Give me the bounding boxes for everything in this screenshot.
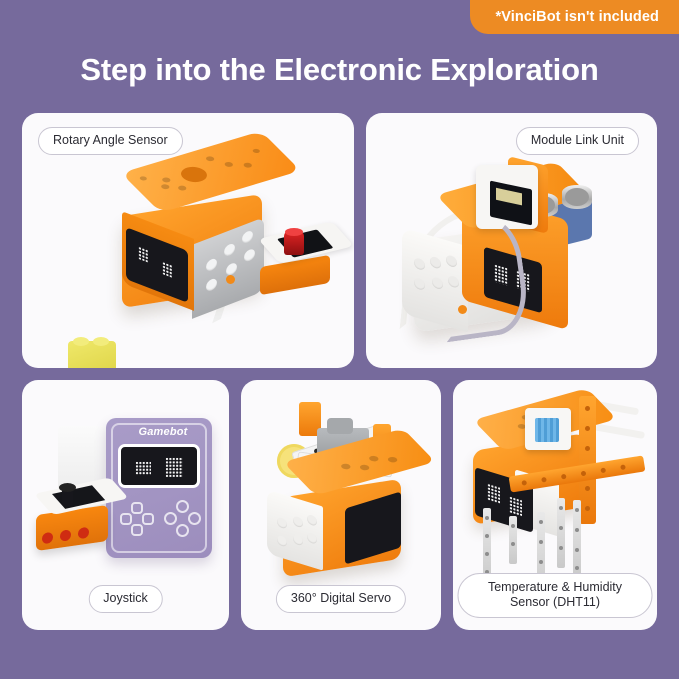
card-digital-servo[interactable]: 360° Digital Servo <box>241 380 441 630</box>
dht11-sensor-grid <box>535 418 559 442</box>
card-row-2: Gamebot Joystick <box>22 380 657 630</box>
orange-beam-vertical <box>579 396 596 524</box>
card-label-module-link-unit: Module Link Unit <box>516 127 639 155</box>
ultrasonic-cylinder-right <box>562 185 592 209</box>
console-screen <box>118 444 200 488</box>
page-title: Step into the Electronic Exploration <box>0 52 679 88</box>
grey-leg-4 <box>557 498 565 568</box>
card-label-joystick: Joystick <box>88 585 162 613</box>
gamebot-console: Gamebot <box>106 418 212 558</box>
card-rotary-angle-sensor[interactable]: Rotary Angle Sensor <box>22 113 354 368</box>
label-line-2: Sensor (DHT11) <box>510 595 600 609</box>
gamebot-logo: Gamebot <box>130 426 196 440</box>
console-buttons <box>164 500 204 540</box>
feature-card-grid: Rotary Angle Sensor <box>22 113 657 630</box>
label-line-1: Temperature & Humidity <box>488 580 622 594</box>
card-label-temperature-humidity-sensor: Temperature & Humidity Sensor (DHT11) <box>458 573 653 618</box>
card-module-link-unit[interactable]: Module Link Unit <box>366 113 657 368</box>
badge-text: *VinciBot isn't included <box>496 9 660 25</box>
grey-leg-5 <box>573 500 581 580</box>
card-label-digital-servo: 360° Digital Servo <box>276 585 406 613</box>
grey-leg-2 <box>509 516 517 564</box>
card-label-rotary-angle-sensor: Rotary Angle Sensor <box>38 127 183 155</box>
rotary-module-base <box>260 255 330 295</box>
console-dpad <box>120 502 154 536</box>
rotary-knob <box>284 231 304 255</box>
joystick-lever <box>62 488 73 506</box>
dht11-sensor-module <box>525 408 571 450</box>
card-joystick[interactable]: Gamebot Joystick <box>22 380 229 630</box>
vincibot-disclaimer-badge: *VinciBot isn't included <box>470 0 679 34</box>
card-row-1: Rotary Angle Sensor <box>22 113 657 368</box>
card-temperature-humidity-sensor[interactable]: Temperature & Humidity Sensor (DHT11) <box>453 380 657 630</box>
yellow-brick <box>68 341 116 368</box>
robot-power-dot <box>226 275 235 284</box>
